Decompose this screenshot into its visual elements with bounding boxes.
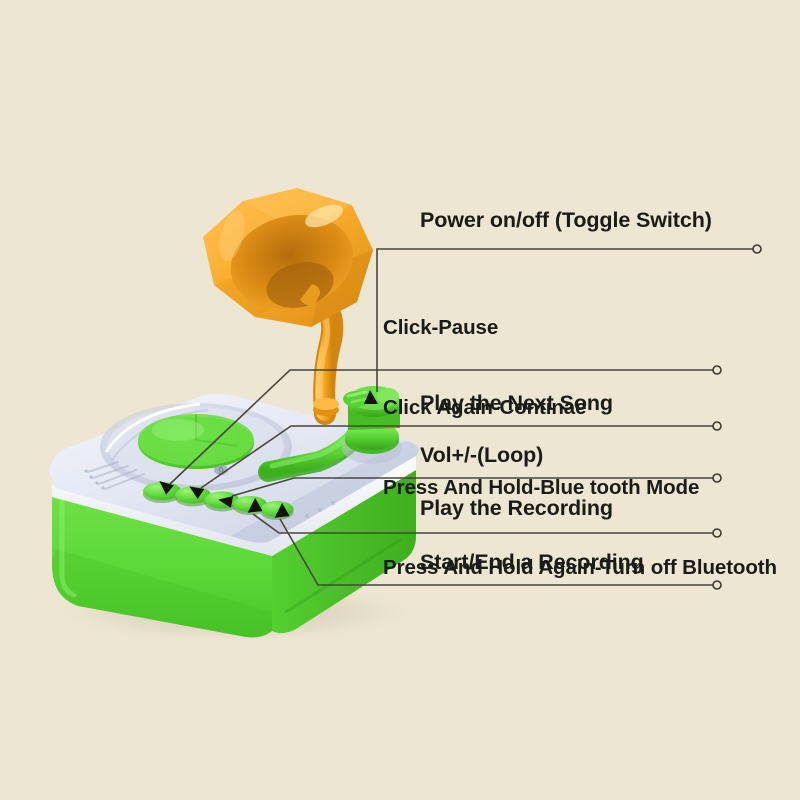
annotation-play-recording: Play the Recording <box>420 496 613 521</box>
horn <box>203 188 373 416</box>
horn-bell <box>203 188 373 327</box>
annotation-power-toggle: Power on/off (Toggle Switch) <box>420 208 712 233</box>
annotation-line-click-pause: Click-Pause <box>383 315 777 342</box>
annotation-volume-loop: Vol+/-(Loop) <box>420 443 543 468</box>
illustration-canvas: 9 <box>0 0 800 800</box>
annotation-start-end-recording: Start/End a Recording <box>420 550 644 575</box>
annotation-next-song: Play the Next Song <box>420 391 613 416</box>
